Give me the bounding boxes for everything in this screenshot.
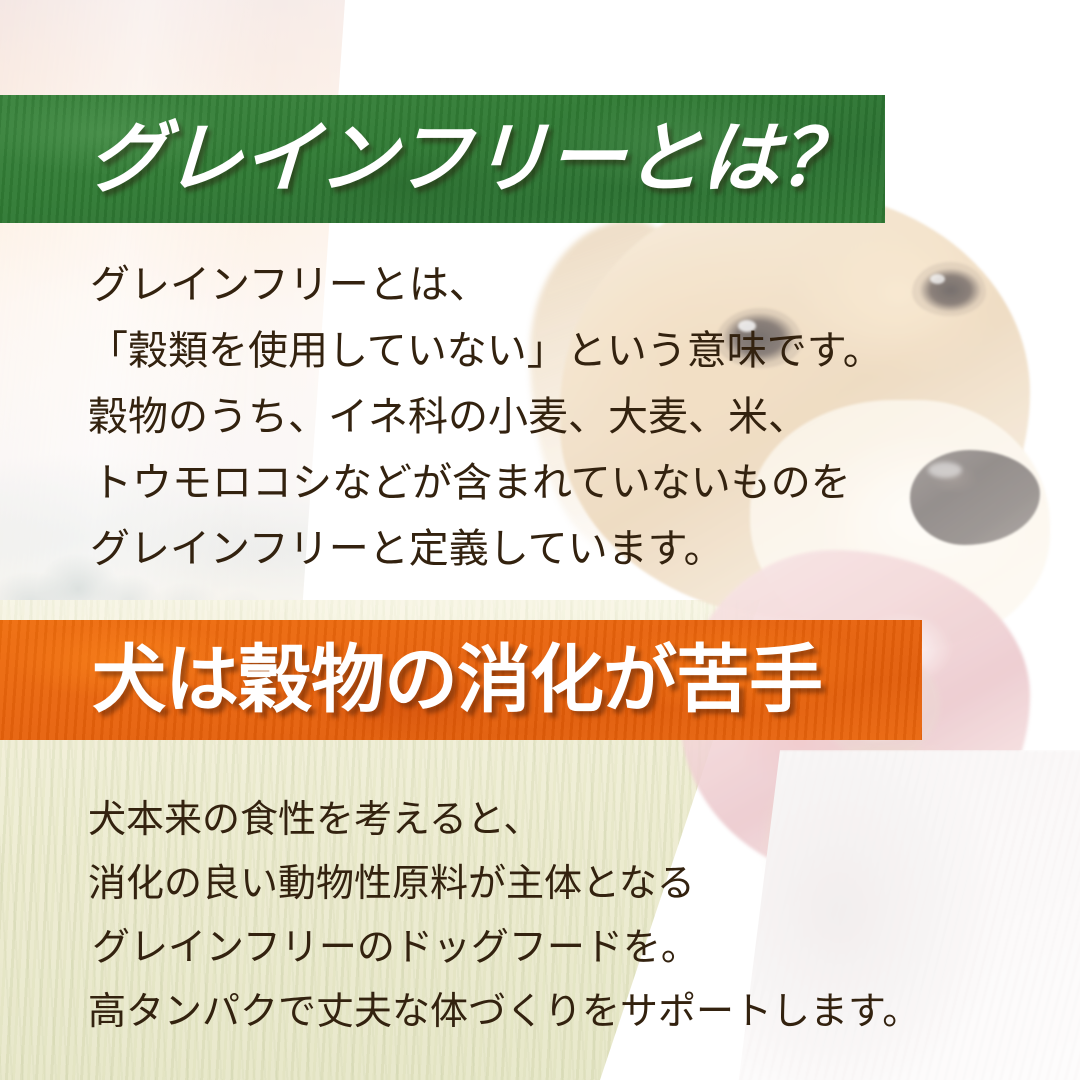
dog-right-eye (912, 262, 986, 316)
copy-line: 「穀類を使用していない」という意味です。 (88, 318, 883, 384)
copy-line: 消化の良い動物性原料が主体となる (88, 852, 920, 916)
copy-line: トウモロコシなどが含まれていないものを (88, 450, 883, 516)
copy-line: 高タンパクで丈夫な体づくりをサポートします。 (88, 980, 920, 1044)
copy-line: グレインフリーのドッグフードを。 (88, 916, 920, 980)
green-banner-headline: グレインフリーとは？ (86, 120, 858, 198)
dog-nose-highlight (928, 462, 962, 478)
dog-diet-text: 犬本来の食性を考えると、 消化の良い動物性原料が主体となる グレインフリーのドッ… (88, 788, 920, 1044)
copy-line: グレインフリーとは、 (88, 252, 883, 318)
copy-line: 犬本来の食性を考えると、 (88, 788, 920, 852)
orange-banner-headline: 犬は穀物の消化が苦手 (92, 643, 822, 717)
infographic-canvas: グレインフリーとは？ グレインフリーとは、 「穀類を使用していない」という意味で… (0, 0, 1080, 1080)
copy-line: グレインフリーと定義しています。 (88, 516, 883, 582)
grain-free-definition-text: グレインフリーとは、 「穀類を使用していない」という意味です。 穀物のうち、イネ… (88, 252, 883, 582)
orange-heading-banner: 犬は穀物の消化が苦手 (0, 620, 922, 740)
dog-right-eye-glint (930, 274, 945, 284)
green-heading-banner: グレインフリーとは？ (0, 95, 885, 223)
copy-line: 穀物のうち、イネ科の小麦、大麦、米、 (88, 384, 883, 450)
